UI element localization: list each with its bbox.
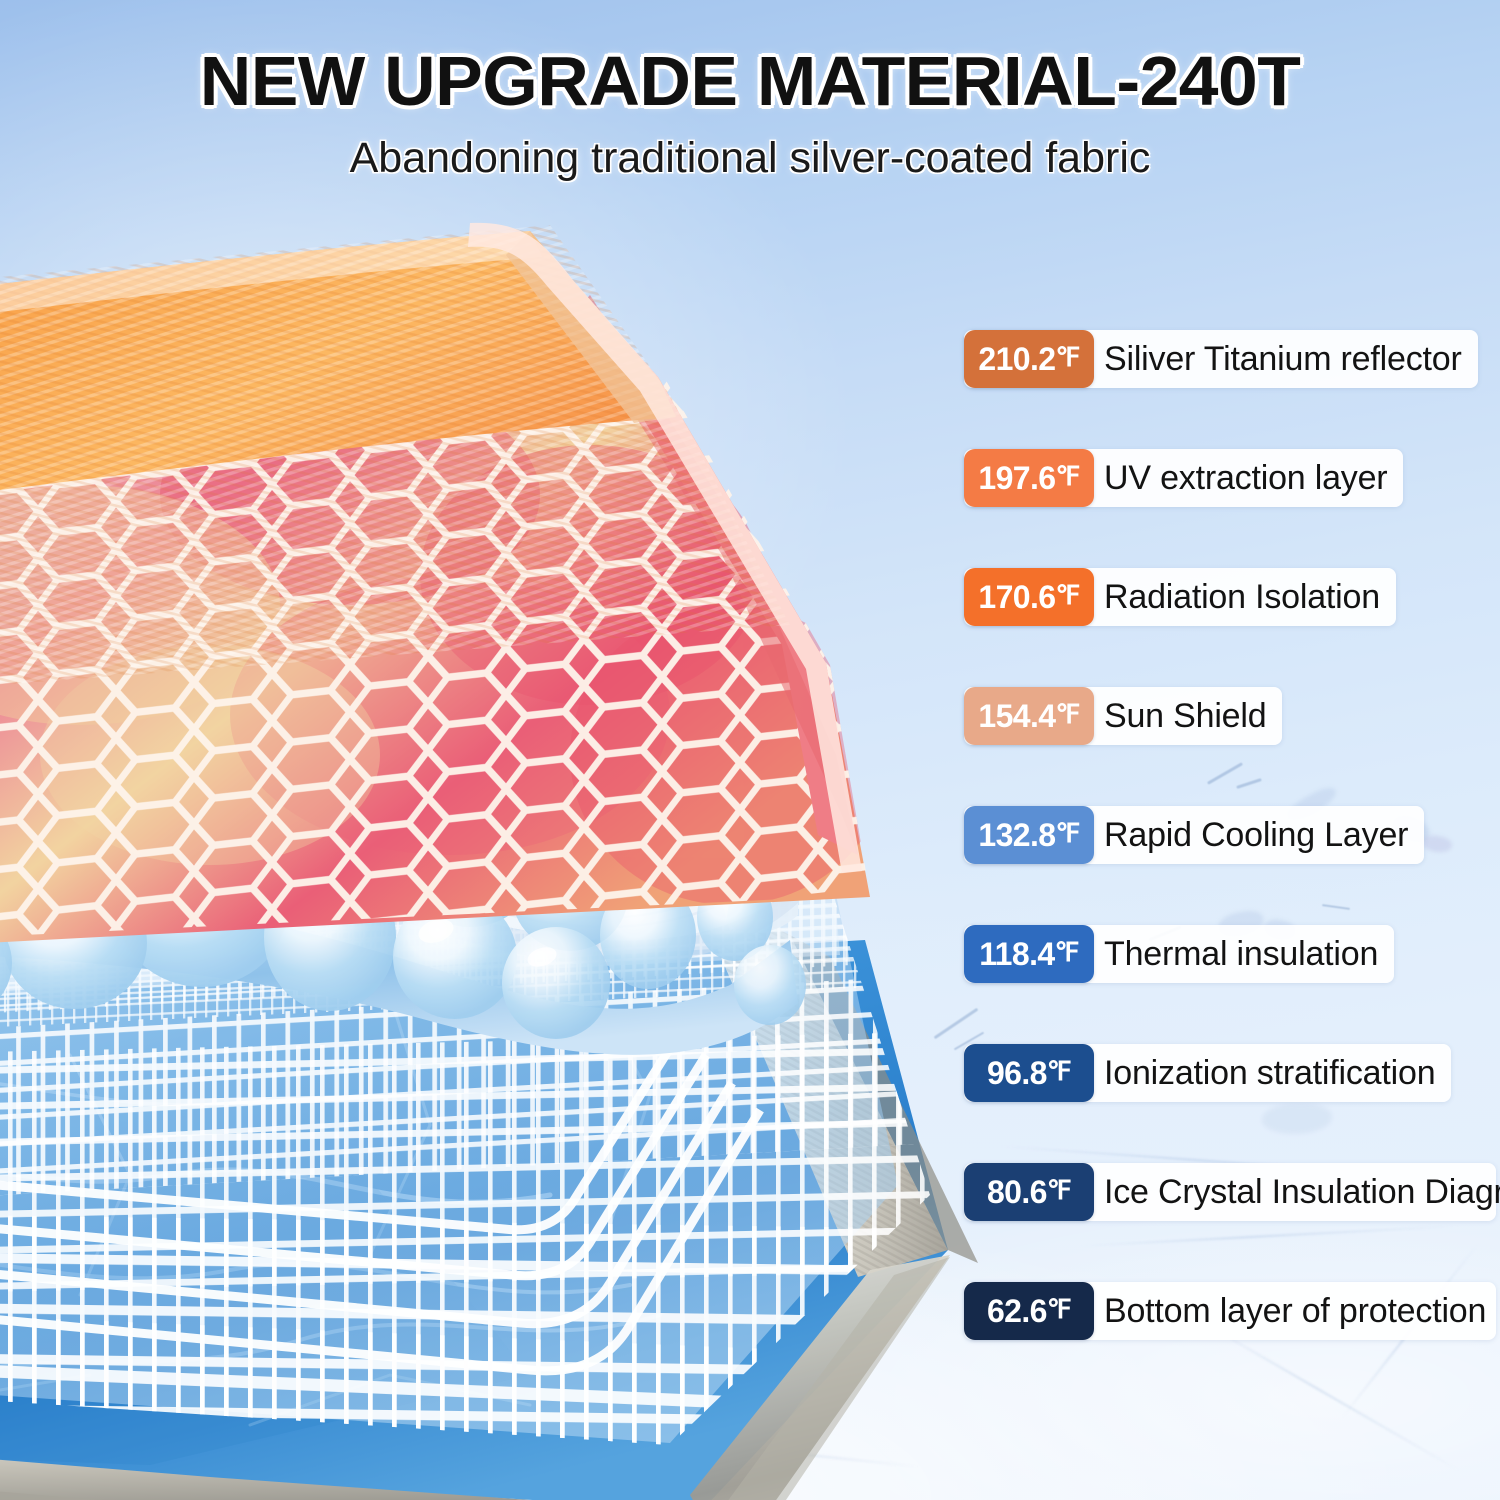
temperature-value: 197.6 [978,460,1055,497]
degree-unit-icon: ℉ [1047,1294,1071,1325]
layer-label: Sun Shield [1094,687,1282,745]
degree-unit-icon: ℉ [1047,1056,1071,1087]
temperature-badge: 118.4℉ [964,925,1094,983]
list-item: 170.6℉ Radiation Isolation [964,568,1396,626]
degree-unit-icon: ℉ [1055,937,1079,968]
temperature-value: 62.6 [987,1293,1047,1330]
degree-unit-icon: ℉ [1047,1175,1071,1206]
temperature-value: 96.8 [987,1055,1047,1092]
layer-label: Ionization stratification [1094,1044,1451,1102]
list-item: 210.2℉ Siliver Titanium reflector [964,330,1478,388]
layer-label: Rapid Cooling Layer [1094,806,1424,864]
temperature-badge: 62.6℉ [964,1282,1094,1340]
temperature-value: 154.4 [978,698,1055,735]
degree-unit-icon: ℉ [1055,342,1079,373]
list-item: 62.6℉ Bottom layer of protection [964,1282,1496,1340]
temperature-badge: 154.4℉ [964,687,1094,745]
temperature-legend-list: 210.2℉ Siliver Titanium reflector 197.6℉… [964,330,1500,1340]
list-item: 118.4℉ Thermal insulation [964,925,1394,983]
temperature-badge: 210.2℉ [964,330,1094,388]
fabric-layers-illustration [0,195,990,1485]
degree-unit-icon: ℉ [1055,818,1079,849]
degree-unit-icon: ℉ [1055,699,1079,730]
layer-label: Bottom layer of protection [1094,1282,1500,1340]
page-subtitle: Abandoning traditional silver-coated fab… [0,134,1500,183]
layer-label: Thermal insulation [1094,925,1394,983]
temperature-badge: 96.8℉ [964,1044,1094,1102]
layer-label: Radiation Isolation [1094,568,1396,626]
degree-unit-icon: ℉ [1055,461,1079,492]
layer-label: Siliver Titanium reflector [1094,330,1478,388]
temperature-value: 210.2 [978,341,1055,378]
list-item: 154.4℉ Sun Shield [964,687,1282,745]
list-item: 96.8℉ Ionization stratification [964,1044,1451,1102]
temperature-value: 80.6 [987,1174,1047,1211]
title-block: NEW UPGRADE MATERIAL-240T Abandoning tra… [0,46,1500,183]
temperature-badge: 170.6℉ [964,568,1094,626]
list-item: 80.6℉ Ice Crystal Insulation Diagram [964,1163,1496,1221]
infographic-canvas: NEW UPGRADE MATERIAL-240T Abandoning tra… [0,0,1500,1500]
temperature-value: 170.6 [978,579,1055,616]
degree-unit-icon: ℉ [1055,580,1079,611]
temperature-badge: 80.6℉ [964,1163,1094,1221]
layer-label: UV extraction layer [1094,449,1403,507]
temperature-value: 132.8 [978,817,1055,854]
list-item: 132.8℉ Rapid Cooling Layer [964,806,1424,864]
list-item: 197.6℉ UV extraction layer [964,449,1403,507]
temperature-value: 118.4 [979,936,1054,973]
temperature-badge: 197.6℉ [964,449,1094,507]
temperature-badge: 132.8℉ [964,806,1094,864]
layer-label: Ice Crystal Insulation Diagram [1094,1163,1500,1221]
page-title: NEW UPGRADE MATERIAL-240T [0,46,1500,116]
